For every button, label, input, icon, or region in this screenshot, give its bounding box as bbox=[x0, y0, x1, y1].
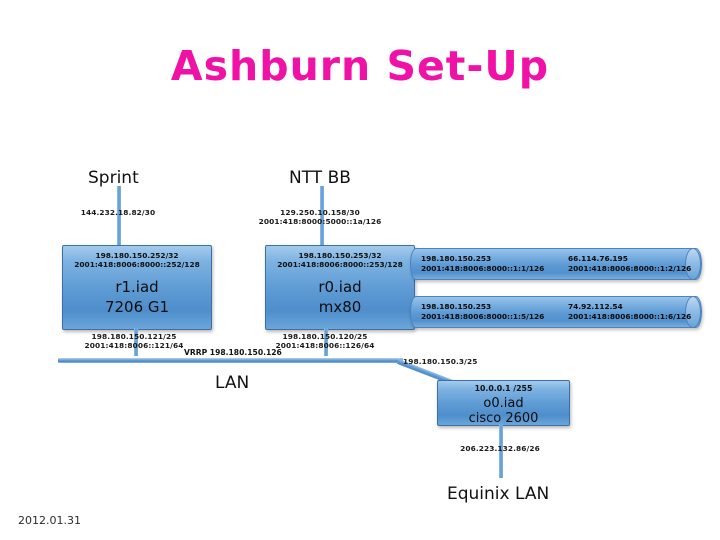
r0-loopback-v6: 2001:418:8006:8000::253/128 bbox=[266, 260, 414, 270]
page-title: Ashburn Set-Up bbox=[0, 42, 720, 90]
router-node-r1-iad[interactable]: 198.180.150.252/32 2001:418:8006:8000::2… bbox=[62, 245, 212, 330]
tunnel-2-remote-v4: 74.92.112.54 bbox=[568, 302, 623, 312]
tunnel-1-remote-v4: 66.114.76.195 bbox=[568, 254, 628, 264]
r1-hostname: r1.iad bbox=[63, 278, 211, 297]
vrrp-label: VRRP 198.180.150.126 bbox=[184, 348, 282, 357]
provider-label-ntt-bb: NTT BB bbox=[289, 168, 351, 188]
router-node-o0-iad[interactable]: 10.0.0.1 /255 o0.iad cisco 2600 bbox=[437, 380, 570, 426]
link-label-ntt-v6: 2001:418:8000:5000::1a/126 bbox=[240, 217, 400, 227]
r0-model: mx80 bbox=[266, 298, 414, 317]
provider-label-sprint: Sprint bbox=[88, 168, 139, 188]
tunnel-2-local-v6: 2001:418:8006:8000::1:5/126 bbox=[421, 312, 544, 322]
tunnel-2-local-v4: 198.180.150.253 bbox=[421, 302, 491, 312]
o0-model: cisco 2600 bbox=[438, 409, 569, 428]
router-node-r0-iad[interactable]: 198.180.150.253/32 2001:418:8006:8000::2… bbox=[265, 245, 415, 330]
r0-hostname: r0.iad bbox=[266, 278, 414, 297]
footer-date: 2012.01.31 bbox=[18, 514, 81, 527]
link-label-equinix: 206.223.132.86/26 bbox=[435, 444, 565, 454]
lan-bus-bar bbox=[58, 358, 403, 363]
tunnel-shape-2[interactable]: 198.180.150.253 2001:418:8006:8000::1:5/… bbox=[410, 296, 702, 328]
provider-label-equinix-lan: Equinix LAN bbox=[447, 484, 549, 504]
tunnel-2-remote-v6: 2001:418:8006:8000::1:6/126 bbox=[568, 312, 691, 322]
slide-canvas: Ashburn Set-Up Sprint NTT BB 144.232.18.… bbox=[0, 0, 720, 540]
lan-label: LAN bbox=[215, 373, 249, 393]
r1-loopback-v6: 2001:418:8006:8000::252/128 bbox=[63, 260, 211, 270]
o0-top-addr: 10.0.0.1 /255 bbox=[438, 384, 569, 394]
tunnel-1-local-v4: 198.180.150.253 bbox=[421, 254, 491, 264]
tunnel-1-remote-v6: 2001:418:8006:8000::1:2/126 bbox=[568, 264, 691, 274]
tunnel-shape-1[interactable]: 198.180.150.253 2001:418:8006:8000::1:1/… bbox=[410, 248, 702, 280]
r1-model: 7206 G1 bbox=[63, 298, 211, 317]
link-label-sprint: 144.232.18.82/30 bbox=[38, 208, 198, 218]
link-label-o0-uplink: 198.180.150.3/25 bbox=[403, 357, 489, 367]
tunnel-1-local-v6: 2001:418:8006:8000::1:1/126 bbox=[421, 264, 544, 274]
